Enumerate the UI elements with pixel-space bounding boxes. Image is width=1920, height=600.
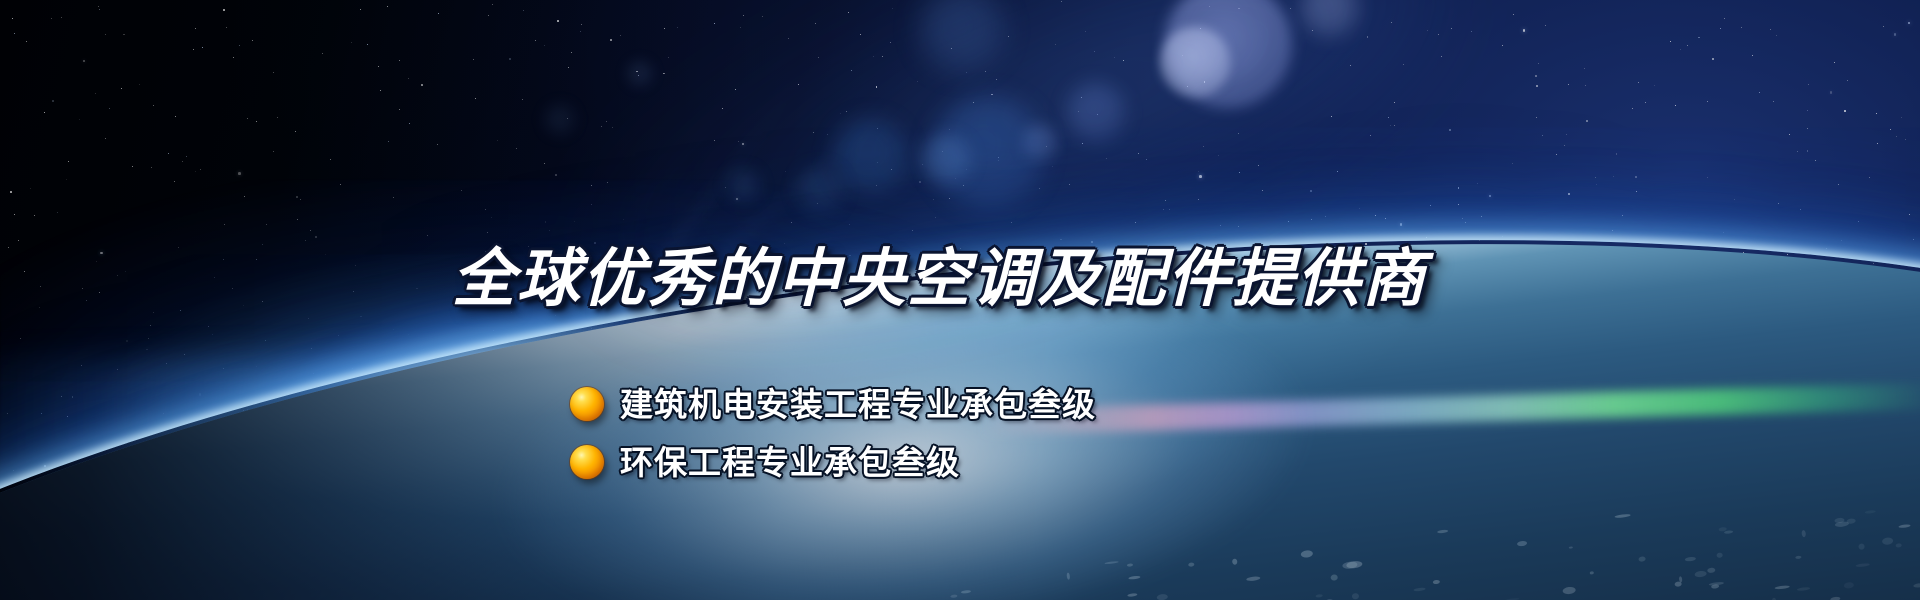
orange-sphere-bullet-icon <box>570 387 604 421</box>
list-item: 建筑机电安装工程专业承包叁级 <box>570 378 1096 430</box>
hero-banner: 全球优秀的中央空调及配件提供商 建筑机电安装工程专业承包叁级 环保工程专业承包叁… <box>0 0 1920 600</box>
banner-bullet-list: 建筑机电安装工程专业承包叁级 环保工程专业承包叁级 <box>570 378 1096 494</box>
list-item: 环保工程专业承包叁级 <box>570 436 1096 488</box>
bullet-label: 建筑机电安装工程专业承包叁级 <box>620 388 1096 421</box>
bullet-label: 环保工程专业承包叁级 <box>620 446 960 479</box>
banner-headline: 全球优秀的中央空调及配件提供商 <box>452 247 1427 310</box>
orange-sphere-bullet-icon <box>570 445 604 479</box>
banner-content: 全球优秀的中央空调及配件提供商 建筑机电安装工程专业承包叁级 环保工程专业承包叁… <box>0 0 1920 600</box>
